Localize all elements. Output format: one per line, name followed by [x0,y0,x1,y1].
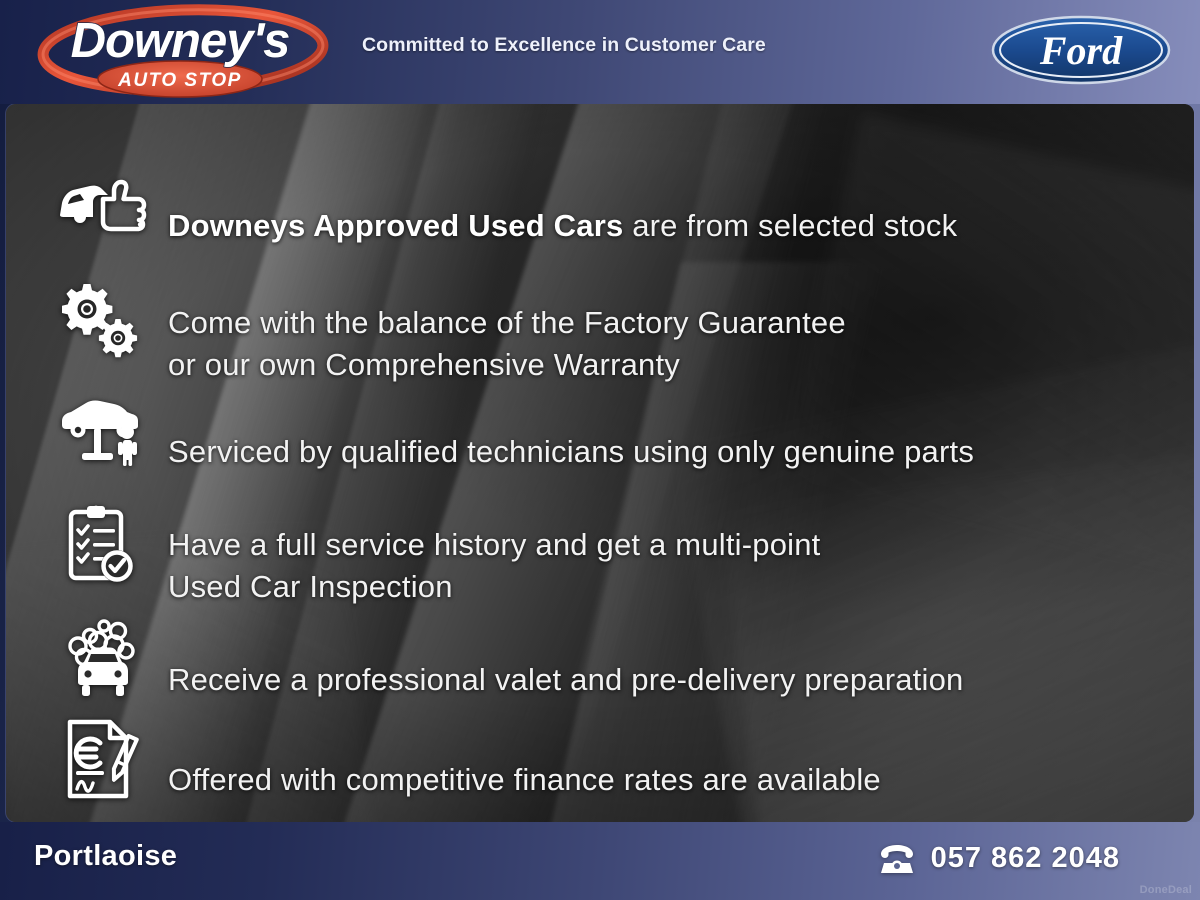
feature-lead: Downeys Approved Used Cars [168,208,623,243]
feature-rest: Offered with competitive finance rates a… [168,762,881,797]
car-lift-mechanic-icon [54,392,150,470]
feature-rest: Receive a professional valet and pre-del… [168,662,963,697]
source-watermark: DoneDeal [1140,884,1192,896]
euro-document-pen-icon [54,720,150,798]
telephone-icon [877,843,917,875]
feature-rest: Have a full service history and get a mu… [168,527,821,604]
phone-number[interactable]: 057 862 2048 [931,842,1120,875]
phone-block[interactable]: 057 862 2048 [877,842,1120,875]
feature-text: Have a full service history and get a mu… [168,481,821,607]
feature-item: Offered with competitive finance rates a… [54,724,1154,794]
gears-icon [54,284,150,362]
feature-item: Come with the balance of the Factory Gua… [54,270,1154,375]
dealer-promo-poster: Downey's AUTO STOP Committed to Excellen… [0,0,1200,900]
svg-text:AUTO STOP: AUTO STOP [117,70,242,91]
ford-logo: Ford [990,14,1172,86]
feature-text: Receive a professional valet and pre-del… [168,616,963,700]
car-wash-icon [54,620,150,698]
svg-text:Downey's: Downey's [71,14,290,68]
feature-rest: Serviced by qualified technicians using … [168,434,974,469]
car-thumbs-up-icon [54,166,150,244]
clipboard-check-icon [54,506,150,584]
feature-text: Offered with competitive finance rates a… [168,717,881,801]
header-tagline: Committed to Excellence in Customer Care [362,34,766,57]
feature-text: Come with the balance of the Factory Gua… [168,260,846,386]
feature-item: Serviced by qualified technicians using … [54,396,1154,466]
poster-footer: Portlaoise 057 862 2048 [0,822,1200,900]
svg-text:Ford: Ford [1039,28,1123,73]
features-panel: Downeys Approved Used Cars are from sele… [6,104,1194,822]
feature-rest: Come with the balance of the Factory Gua… [168,305,846,382]
feature-item: Receive a professional valet and pre-del… [54,623,1154,693]
feature-text: Serviced by qualified technicians using … [168,389,974,473]
feature-text: Downeys Approved Used Cars are from sele… [168,163,957,247]
branch-name: Portlaoise [34,840,177,873]
feature-list: Downeys Approved Used Cars are from sele… [6,104,1194,822]
feature-item: Have a full service history and get a mu… [54,492,1154,597]
feature-item: Downeys Approved Used Cars are from sele… [54,170,1154,240]
poster-header: Downey's AUTO STOP Committed to Excellen… [0,0,1200,104]
downeys-logo: Downey's AUTO STOP [28,4,338,102]
feature-rest: are from selected stock [623,208,957,243]
